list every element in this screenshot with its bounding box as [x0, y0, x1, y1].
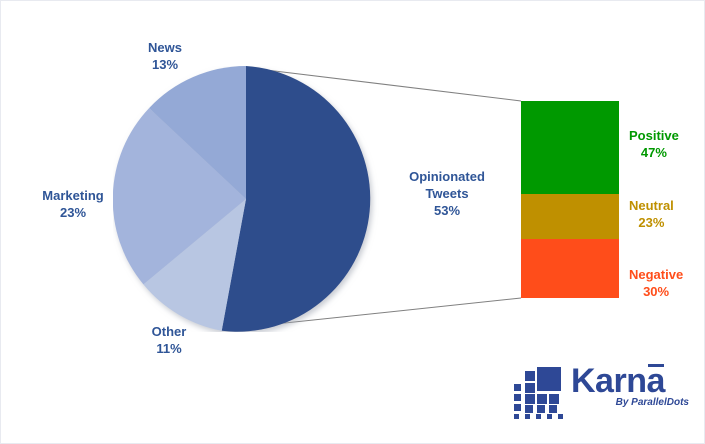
pie-label-marketing: Marketing 23%	[17, 187, 129, 221]
logo-wordmark-macron-a: a	[646, 363, 664, 399]
stacked-bar-chart	[521, 101, 619, 298]
pie-label-news: News 13%	[117, 39, 213, 73]
pie-label-news-name: News	[148, 40, 182, 55]
pie-chart	[113, 66, 379, 332]
bar-label-negative-value: 30%	[629, 283, 683, 300]
logo-text-block: Karna By ParallelDots	[571, 363, 691, 409]
pie-label-opinionated-tweets-name-line1: Opinionated	[409, 169, 485, 184]
paralleldots-grid-icon	[509, 365, 565, 419]
pie-label-news-value: 13%	[117, 56, 213, 73]
bar-segment-negative[interactable]	[521, 239, 619, 298]
bar-label-neutral-name: Neutral	[629, 198, 674, 213]
bar-label-positive-value: 47%	[629, 144, 679, 161]
logo-wordmark: Karna	[571, 363, 691, 399]
bar-label-neutral: Neutral 23%	[629, 197, 674, 231]
pie-label-marketing-value: 23%	[17, 204, 129, 221]
bar-label-neutral-value: 23%	[629, 214, 674, 231]
bar-segment-positive[interactable]	[521, 101, 619, 194]
pie-label-opinionated-tweets-value: 53%	[387, 202, 507, 219]
bar-label-negative-name: Negative	[629, 267, 683, 282]
pie-label-marketing-name: Marketing	[42, 188, 103, 203]
bar-label-positive-name: Positive	[629, 128, 679, 143]
pie-svg	[113, 66, 379, 332]
pie-label-opinionated-tweets: Opinionated Tweets 53%	[387, 168, 507, 219]
pie-label-other: Other 11%	[121, 323, 217, 357]
karna-logo: Karna By ParallelDots	[509, 363, 689, 425]
pie-label-opinionated-tweets-name-line2: Tweets	[387, 185, 507, 202]
bar-label-negative: Negative 30%	[629, 266, 683, 300]
logo-wordmark-main: Karn	[571, 362, 646, 400]
bar-label-positive: Positive 47%	[629, 127, 679, 161]
pie-label-other-value: 11%	[121, 340, 217, 357]
pie-label-other-name: Other	[152, 324, 187, 339]
chart-canvas: News 13% Marketing 23% Other 11% Opinion…	[0, 0, 705, 444]
bar-segment-neutral[interactable]	[521, 194, 619, 239]
